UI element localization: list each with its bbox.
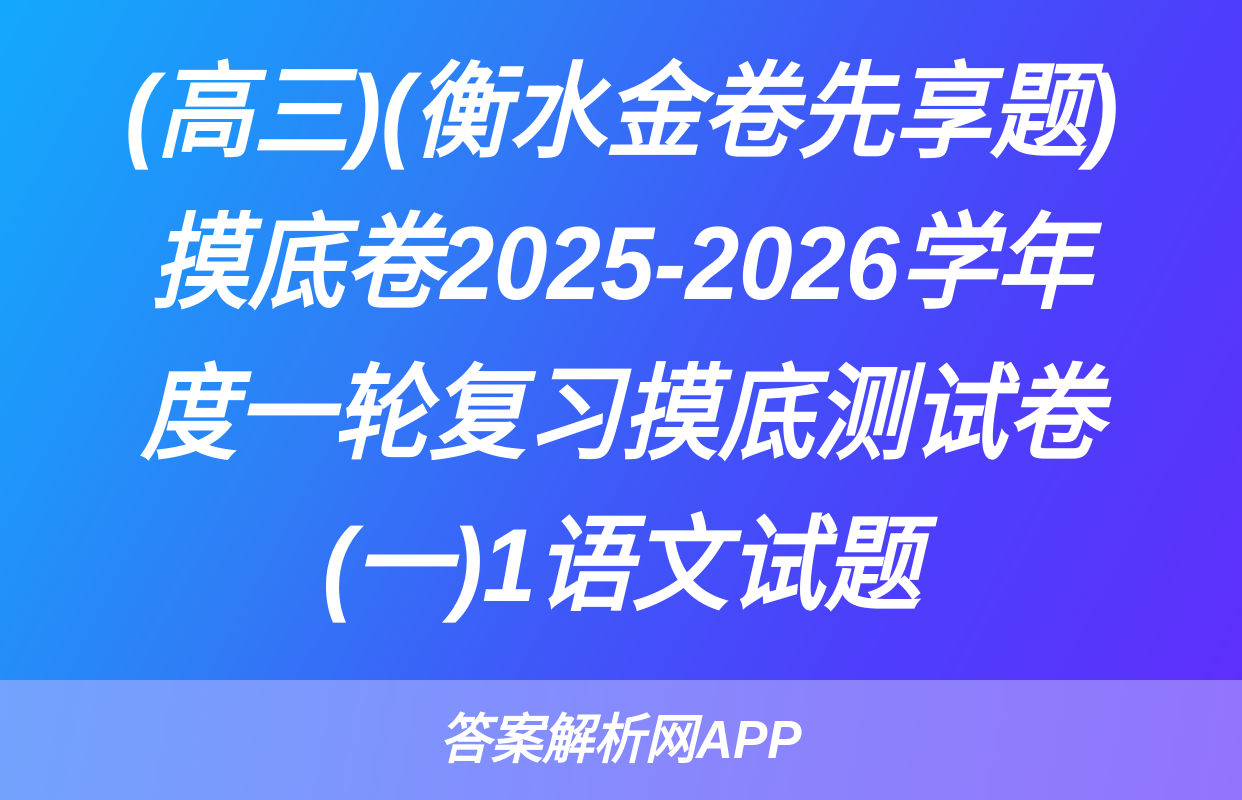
brand-watermark: 答案解析网APP — [440, 713, 802, 767]
hero-banner: (高三)(衡水金卷先享题)摸底卷2025-2026学年度一轮复习摸底测试卷(一)… — [0, 0, 1242, 680]
poster-root: (高三)(衡水金卷先享题)摸底卷2025-2026学年度一轮复习摸底测试卷(一)… — [0, 0, 1242, 800]
watermark-band: 答案解析网APP — [0, 680, 1242, 800]
page-title: (高三)(衡水金卷先享题)摸底卷2025-2026学年度一轮复习摸底测试卷(一)… — [121, 38, 1121, 641]
